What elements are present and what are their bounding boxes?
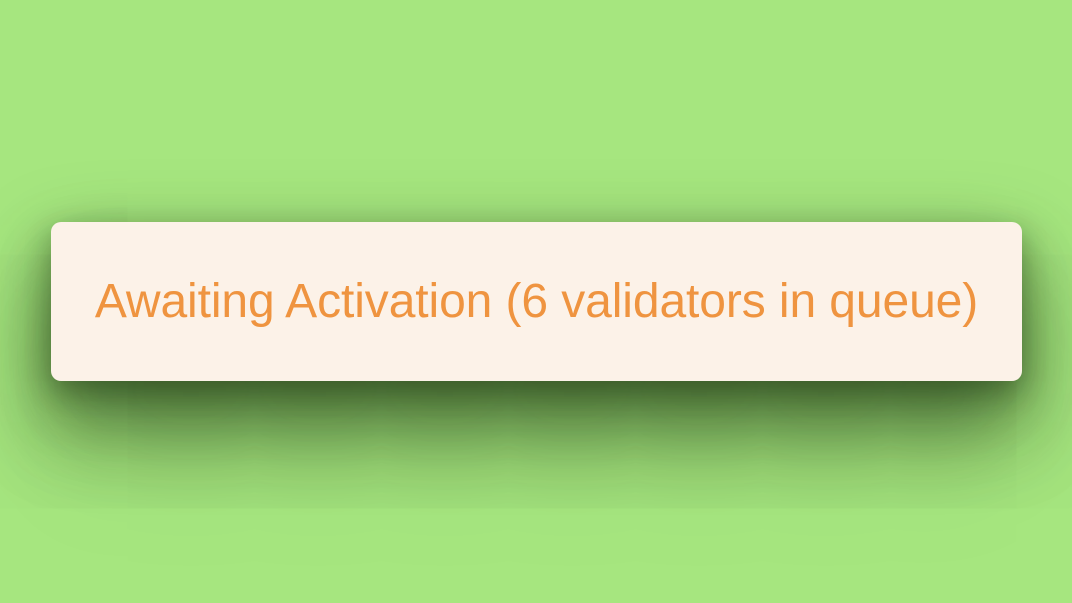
status-badge-label: Awaiting Activation (6 validators in que… [95,278,978,326]
screen-background: Awaiting Activation (6 validators in que… [0,0,1072,603]
validator-status-card[interactable]: Awaiting Activation (6 validators in que… [51,222,1022,381]
